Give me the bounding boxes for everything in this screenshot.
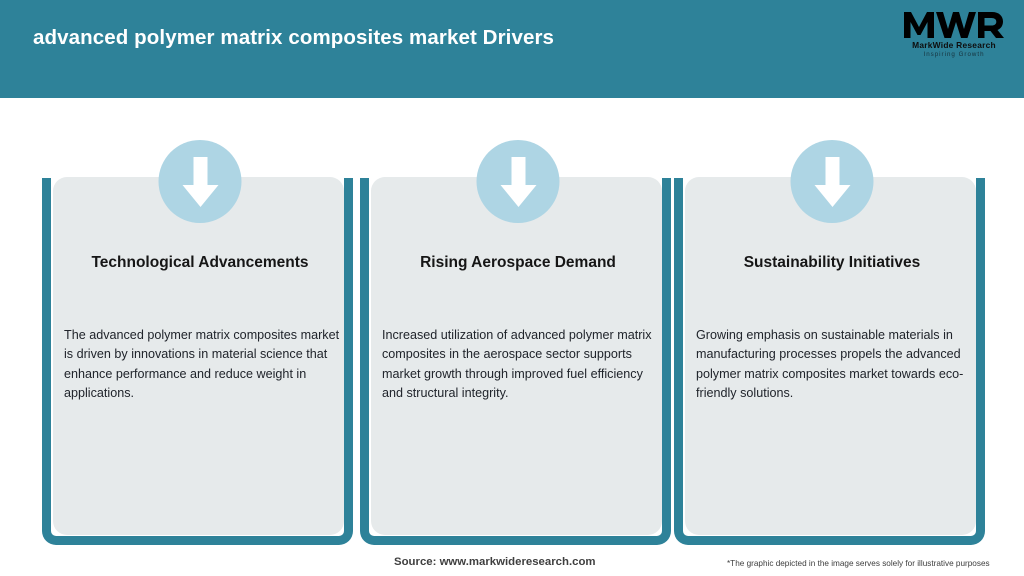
down-arrow-icon xyxy=(477,140,560,223)
down-arrow-glyph xyxy=(496,155,540,209)
down-arrow-glyph xyxy=(178,155,222,209)
drivers-card-group: Technological Advancements The advanced … xyxy=(0,98,1024,538)
page-title: advanced polymer matrix composites marke… xyxy=(33,26,554,50)
card-body-text: The advanced polymer matrix composites m… xyxy=(64,326,342,404)
header-bar: advanced polymer matrix composites marke… xyxy=(0,0,1024,98)
down-arrow-glyph xyxy=(810,155,854,209)
card-body-text: Increased utilization of advanced polyme… xyxy=(382,326,660,404)
card-title: Rising Aerospace Demand xyxy=(376,253,660,273)
mwr-logo-icon xyxy=(902,9,1006,40)
disclaimer-note: *The graphic depicted in the image serve… xyxy=(727,559,990,568)
down-arrow-icon xyxy=(159,140,242,223)
driver-card-3: Sustainability Initiatives Growing empha… xyxy=(674,98,990,538)
source-label: Source: www.markwideresearch.com xyxy=(394,556,596,568)
card-title: Technological Advancements xyxy=(58,253,342,273)
brand-logo: MarkWide Research Inspiring Growth xyxy=(902,9,1006,65)
card-body-text: Growing emphasis on sustainable material… xyxy=(696,326,974,404)
card-title: Sustainability Initiatives xyxy=(690,253,974,273)
driver-card-2: Rising Aerospace Demand Increased utiliz… xyxy=(360,98,676,538)
driver-card-1: Technological Advancements The advanced … xyxy=(42,98,358,538)
down-arrow-icon xyxy=(791,140,874,223)
logo-tagline: Inspiring Growth xyxy=(902,50,1006,59)
logo-name: MarkWide Research xyxy=(902,40,1006,50)
